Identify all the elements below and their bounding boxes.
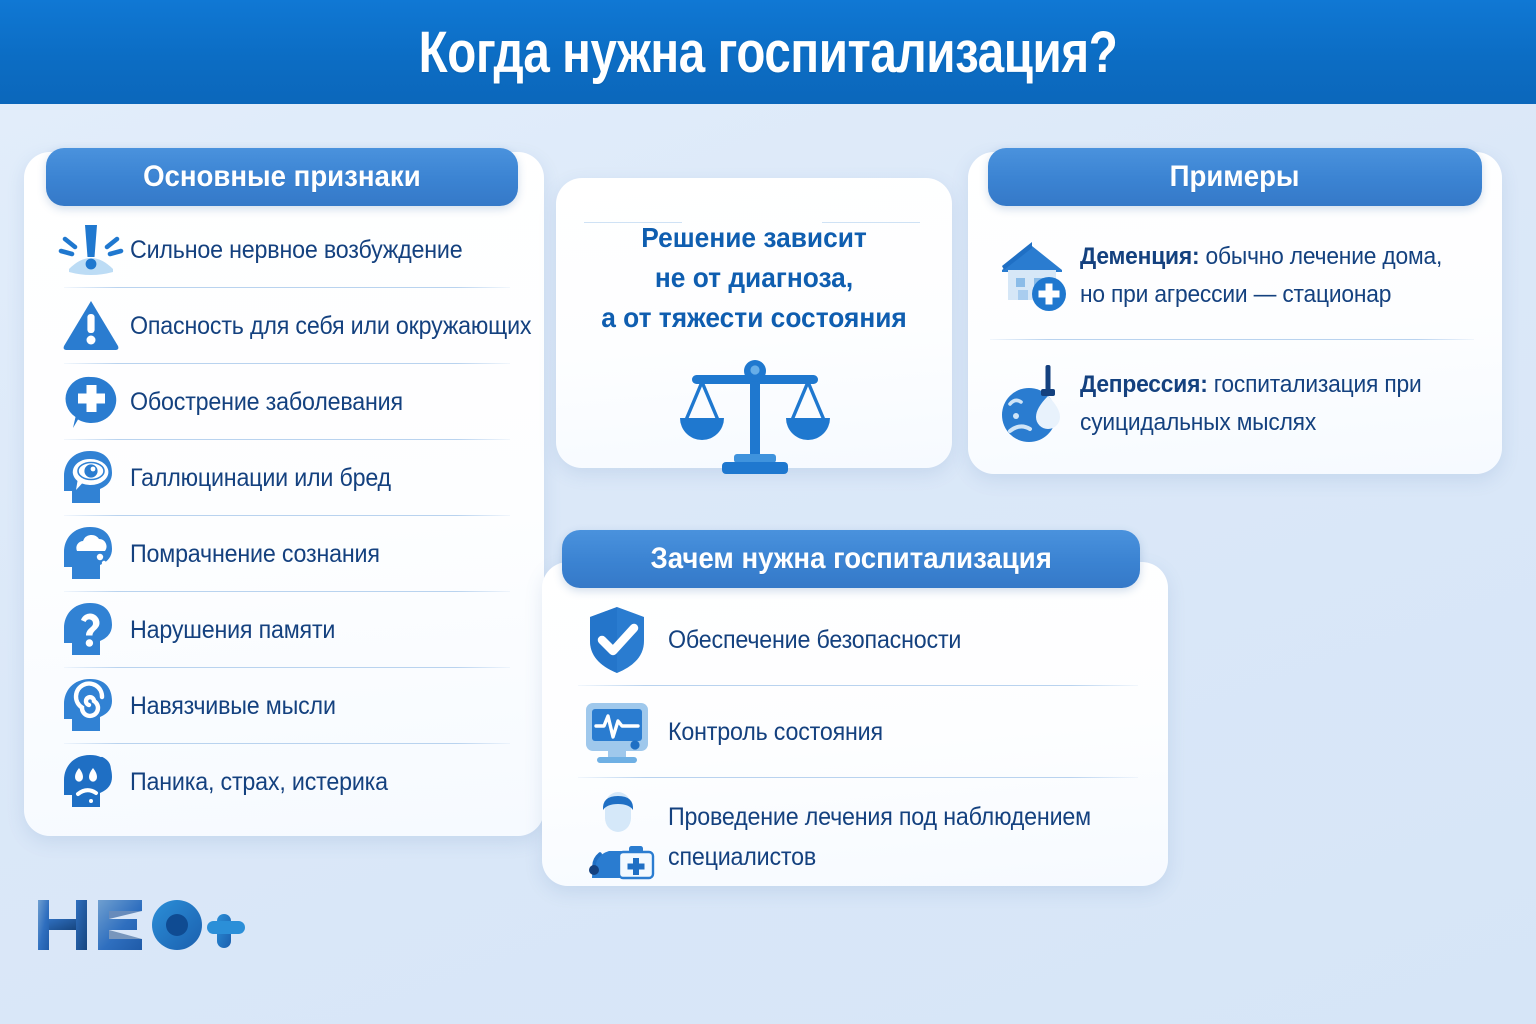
speech-bubble-cross-icon (58, 371, 124, 433)
exclamation-burst-icon (58, 219, 124, 281)
decision-line-1: Решение зависит (568, 218, 940, 258)
decision-divider-left (584, 222, 682, 223)
list-item[interactable]: Навязчивые мысли (24, 668, 544, 744)
list-item-label: Депрессия: госпитализация при суицидальн… (1080, 366, 1452, 442)
purpose-list: Обеспечение безопасности Контроль состоя… (542, 594, 1168, 896)
list-item[interactable]: Паника, страх, истерика (24, 744, 544, 820)
balance-scales-icon (676, 358, 834, 476)
decision-line-3: а от тяжести состояния (568, 298, 940, 338)
purpose-header-pill: Зачем нужна госпитализация (562, 530, 1140, 588)
list-item[interactable]: Обострение заболевания (24, 364, 544, 440)
head-spiral-icon (58, 675, 124, 737)
head-sad-face-icon (58, 751, 124, 813)
list-item[interactable]: Проведение лечения под наблюдением специ… (542, 778, 1168, 896)
list-item-label: Деменция: обычно лечение дома, но при аг… (1080, 238, 1452, 314)
list-item[interactable]: Нарушения памяти (24, 592, 544, 668)
house-medical-cross-icon (994, 233, 1072, 319)
warning-triangle-icon (58, 295, 124, 357)
list-item-label: Обострение заболевания (130, 386, 403, 418)
decision-statement-text: Решение зависит не от диагноза, а от тяж… (568, 218, 940, 337)
list-item[interactable]: Деменция: обычно лечение дома, но при аг… (968, 212, 1502, 340)
list-item-label: Паника, страх, истерика (130, 766, 388, 798)
list-item[interactable]: Опасность для себя или окружающих (24, 288, 544, 364)
head-eye-bubble-icon (58, 447, 124, 509)
list-item[interactable]: Депрессия: госпитализация при суицидальн… (968, 340, 1502, 468)
head-cloud-icon (58, 523, 124, 585)
list-item-label: Навязчивые мысли (130, 690, 336, 722)
head-question-mark-icon (58, 599, 124, 661)
main-signs-title: Основные признаки (143, 160, 421, 194)
list-item[interactable]: Обеспечение безопасности (542, 594, 1168, 686)
example-term: Деменция: (1080, 243, 1199, 270)
page-title: Когда нужна госпитализация? (419, 19, 1118, 86)
decision-line-2: не от диагноза, (568, 258, 940, 298)
header-bar: Когда нужна госпитализация? (0, 0, 1536, 104)
list-item[interactable]: Контроль состояния (542, 686, 1168, 778)
list-item-label: Контроль состояния (668, 712, 883, 752)
list-item-label: Сильное нервное возбуждение (130, 234, 462, 266)
examples-header-pill: Примеры (988, 148, 1482, 206)
list-item-label: Обеспечение безопасности (668, 620, 961, 660)
list-item[interactable]: Галлюцинации или бред (24, 440, 544, 516)
list-item-label: Помрачнение сознания (130, 538, 380, 570)
main-signs-header-pill: Основные признаки (46, 148, 518, 206)
shield-check-icon (580, 601, 654, 679)
list-item-label: Нарушения памяти (130, 614, 335, 646)
example-term: Депрессия: (1080, 371, 1208, 398)
ecg-monitor-icon (580, 693, 654, 771)
list-item[interactable]: Сильное нервное возбуждение (24, 212, 544, 288)
decision-divider-right (822, 222, 920, 223)
purpose-title: Зачем нужна госпитализация (650, 542, 1051, 576)
list-item[interactable]: Помрачнение сознания (24, 516, 544, 592)
examples-title: Примеры (1170, 160, 1300, 194)
brand-logo[interactable] (36, 894, 246, 956)
main-signs-list: Сильное нервное возбуждение Опасность дл… (24, 212, 544, 820)
list-item-label: Опасность для себя или окружающих (130, 310, 531, 342)
list-item-label: Проведение лечения под наблюдением специ… (668, 797, 1133, 877)
list-item-label: Галлюцинации или бред (130, 462, 391, 494)
doctor-medical-bag-icon (580, 798, 654, 876)
sad-face-noose-icon (994, 361, 1072, 447)
examples-list: Деменция: обычно лечение дома, но при аг… (968, 212, 1502, 468)
